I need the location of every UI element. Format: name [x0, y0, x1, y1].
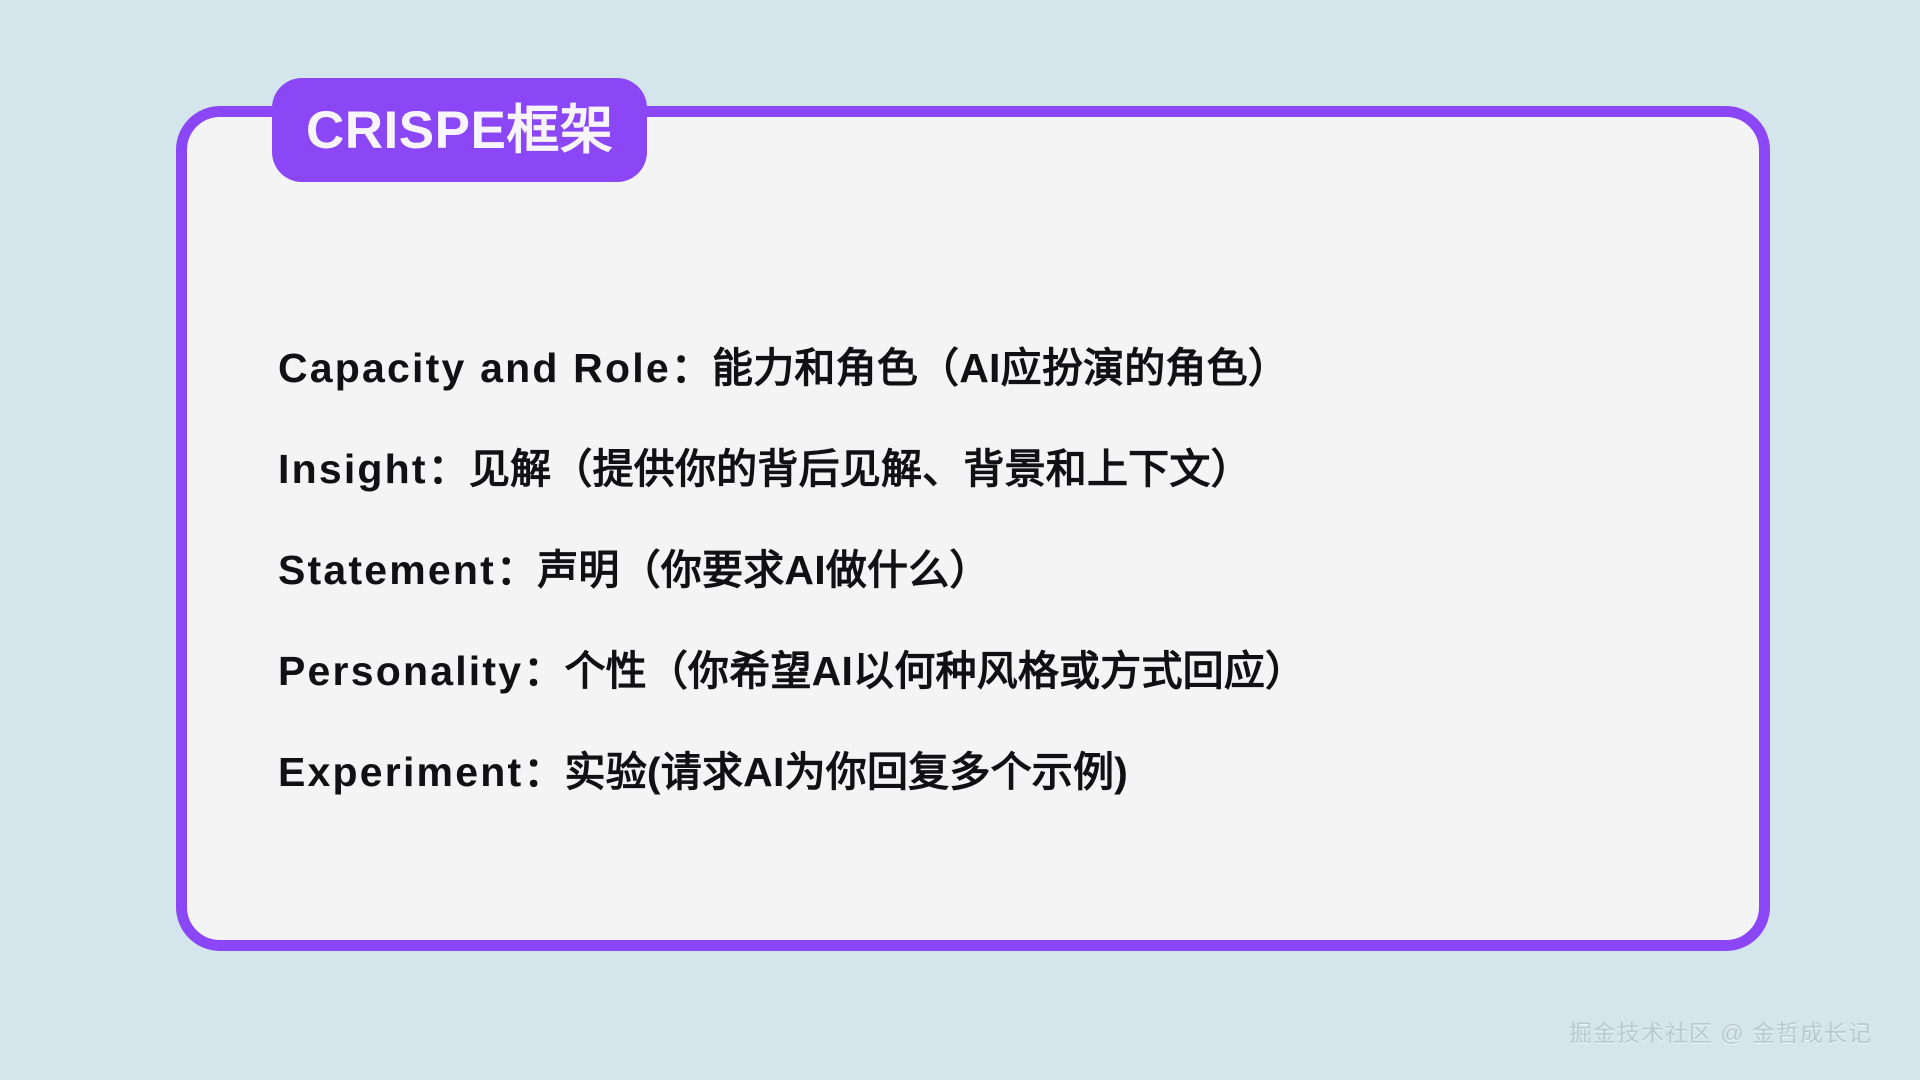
- list-item: Statement：声明（你要求AI做什么）: [278, 520, 1558, 621]
- framework-separator: ：: [671, 345, 712, 391]
- framework-separator: ：: [496, 547, 537, 593]
- framework-term: Personality: [278, 648, 523, 694]
- framework-term: Capacity and Role: [278, 345, 671, 391]
- framework-term: Insight: [278, 446, 428, 492]
- framework-separator: ：: [428, 446, 469, 492]
- framework-term: Experiment: [278, 749, 523, 795]
- framework-term: Statement: [278, 547, 496, 593]
- framework-description: 声明（你要求AI做什么）: [537, 547, 990, 593]
- list-item: Personality：个性（你希望AI以何种风格或方式回应）: [278, 621, 1558, 722]
- watermark: 掘金技术社区 @ 金哲成长记: [1569, 1014, 1872, 1048]
- framework-separator: ：: [523, 749, 564, 795]
- framework-description: 实验(请求AI为你回复多个示例): [565, 749, 1129, 795]
- list-item: Capacity and Role：能力和角色（AI应扮演的角色）: [278, 318, 1558, 419]
- framework-description: 个性（你希望AI以何种风格或方式回应）: [564, 648, 1306, 694]
- list-item: Insight：见解（提供你的背后见解、背景和上下文）: [278, 419, 1558, 520]
- list-item: Experiment：实验(请求AI为你回复多个示例): [278, 722, 1558, 823]
- framework-list: Capacity and Role：能力和角色（AI应扮演的角色） Insigh…: [278, 318, 1558, 823]
- framework-description: 见解（提供你的背后见解、背景和上下文）: [469, 446, 1252, 492]
- framework-separator: ：: [523, 648, 564, 694]
- framework-description: 能力和角色（AI应扮演的角色）: [712, 345, 1289, 391]
- slide-canvas: CRISPE框架 Capacity and Role：能力和角色（AI应扮演的角…: [0, 0, 1920, 1080]
- framework-title-label: CRISPE框架: [306, 104, 613, 157]
- framework-title-badge: CRISPE框架: [272, 78, 647, 182]
